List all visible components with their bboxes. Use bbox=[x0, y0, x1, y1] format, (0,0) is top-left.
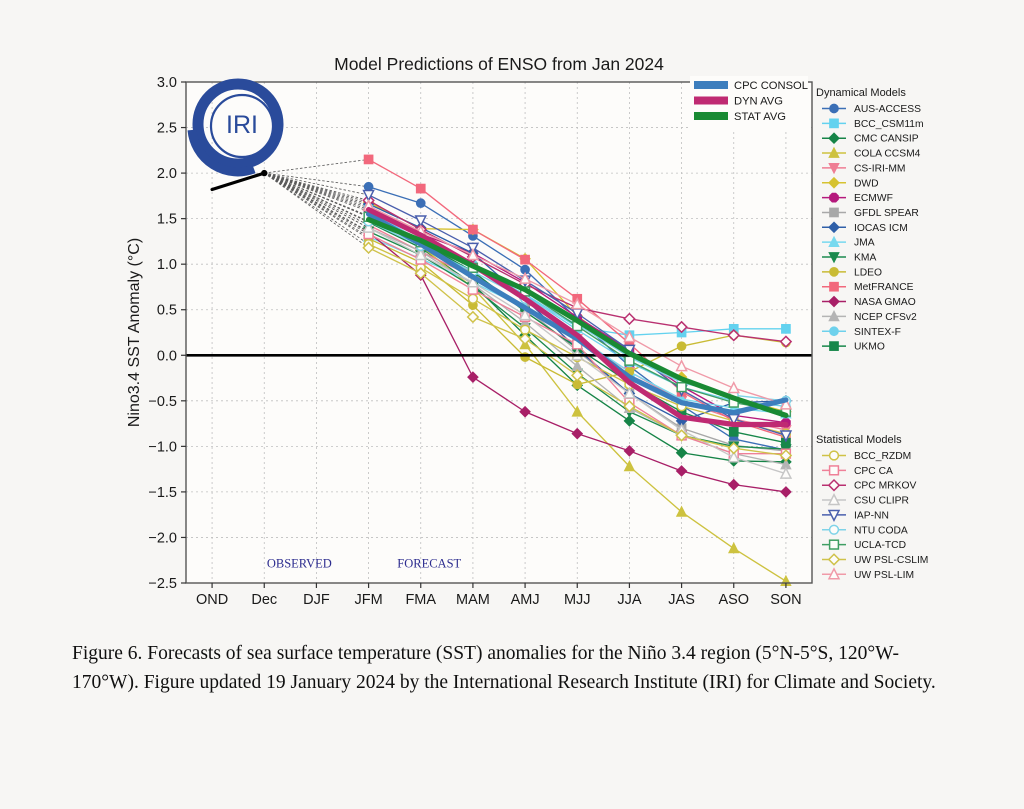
y-tick-label: 0.0 bbox=[157, 348, 177, 364]
legend-label: CPC CONSOL bbox=[734, 80, 808, 92]
legend-label-jma: JMA bbox=[854, 238, 875, 249]
y-tick-label: 1.0 bbox=[157, 257, 177, 273]
x-tick-label-jfm: JFM bbox=[354, 592, 382, 608]
legend-label-iocas-icm: IOCAS ICM bbox=[854, 223, 908, 234]
data-point-marker bbox=[830, 104, 839, 113]
legend-label-ntu-coda: NTU CODA bbox=[854, 525, 908, 536]
legend-label: DYN AVG bbox=[734, 96, 783, 108]
x-tick-label-mjj: MJJ bbox=[564, 592, 591, 608]
data-point-marker bbox=[416, 199, 425, 208]
data-point-marker bbox=[830, 466, 839, 475]
x-tick-label-dec: Dec bbox=[251, 592, 277, 608]
legend-label-kma: KMA bbox=[854, 253, 876, 264]
x-tick-label-son: SON bbox=[770, 592, 801, 608]
data-point-marker bbox=[829, 133, 839, 143]
legend-label-ncep-cfsv2: NCEP CFSv2 bbox=[854, 312, 917, 323]
y-tick-label: 2.5 bbox=[157, 121, 177, 137]
y-tick-label: 1.5 bbox=[157, 212, 177, 228]
data-point-marker bbox=[364, 155, 373, 164]
legend-label: STAT AVG bbox=[734, 111, 786, 123]
data-point-marker bbox=[677, 342, 686, 351]
data-point-marker bbox=[830, 451, 839, 460]
observed-node bbox=[261, 170, 267, 176]
legend-swatch bbox=[694, 97, 728, 105]
emphasis-legend: CPC CONSOLDYN AVGSTAT AVG bbox=[690, 76, 808, 131]
data-point-marker bbox=[521, 255, 530, 264]
x-tick-label-amj: AMJ bbox=[511, 592, 540, 608]
annotation-observed: OBSERVED bbox=[267, 557, 332, 571]
y-tick-label: −2.0 bbox=[148, 530, 177, 546]
data-point-marker bbox=[782, 324, 791, 333]
data-point-marker bbox=[830, 119, 839, 128]
data-point-marker bbox=[830, 267, 839, 276]
legend-label-bcc-rzdm: BCC_RZDM bbox=[854, 451, 911, 462]
legend-label-uw-psl-lim: UW PSL-LIM bbox=[854, 570, 914, 581]
data-point-marker bbox=[830, 282, 839, 291]
dynamical-models-legend: Dynamical ModelsAUS-ACCESSBCC_CSM11mCMC … bbox=[816, 87, 924, 353]
y-tick-label: 2.0 bbox=[157, 166, 177, 182]
legend-label-sintex-f: SINTEX-F bbox=[854, 327, 901, 338]
x-tick-label-jja: JJA bbox=[617, 592, 642, 608]
y-tick-label: −0.5 bbox=[148, 394, 177, 410]
legend-label-gfdl-spear: GFDL SPEAR bbox=[854, 208, 919, 219]
legend-label-ecmwf: ECMWF bbox=[854, 193, 893, 204]
legend-label-cpc-mrkov: CPC MRKOV bbox=[854, 481, 916, 492]
legend-swatch bbox=[694, 81, 728, 89]
legend-label-dwd: DWD bbox=[854, 178, 879, 189]
legend-label-cs-iri-mm: CS-IRI-MM bbox=[854, 163, 905, 174]
enso-forecast-chart: 3.02.52.01.51.00.50.0−0.5−1.0−1.5−2.0−2.… bbox=[0, 0, 1024, 625]
legend-label-ukmo: UKMO bbox=[854, 342, 885, 353]
x-tick-label-djf: DJF bbox=[303, 592, 330, 608]
data-point-marker bbox=[830, 327, 839, 336]
caption-text: Figure 6. Forecasts of sea surface tempe… bbox=[0, 640, 1024, 698]
data-point-marker bbox=[829, 296, 839, 306]
y-tick-label: 0.5 bbox=[157, 303, 177, 319]
logo-text: IRI bbox=[226, 111, 258, 139]
figure-caption: Figure 6. Forecasts of sea surface tempe… bbox=[0, 640, 1024, 698]
data-point-marker bbox=[469, 294, 478, 303]
data-point-marker bbox=[830, 208, 839, 217]
y-tick-label: 3.0 bbox=[157, 75, 177, 91]
legend-label-csu-clipr: CSU CLIPR bbox=[854, 496, 909, 507]
legend-label-bcc-csm11m: BCC_CSM11m bbox=[854, 119, 924, 130]
annotation-forecast: FORECAST bbox=[397, 557, 461, 571]
y-tick-label: −1.0 bbox=[148, 439, 177, 455]
data-point-marker bbox=[830, 540, 839, 549]
legend-label-cmc-cansip: CMC CANSIP bbox=[854, 134, 919, 145]
figure-container: 3.02.52.01.51.00.50.0−0.5−1.0−1.5−2.0−2.… bbox=[0, 0, 1024, 809]
data-point-marker bbox=[729, 427, 738, 436]
data-point-marker bbox=[829, 222, 839, 232]
legend-label-cpc-ca: CPC CA bbox=[854, 466, 893, 477]
legend-header: Statistical Models bbox=[816, 434, 902, 446]
data-point-marker bbox=[829, 554, 839, 564]
legend-label-ldeo: LDEO bbox=[854, 267, 882, 278]
x-tick-label-jas: JAS bbox=[668, 592, 695, 608]
data-point-marker bbox=[830, 525, 839, 534]
data-point-marker bbox=[830, 193, 839, 202]
data-point-marker bbox=[416, 184, 425, 193]
legend-label-uw-psl-cslim: UW PSL-CSLIM bbox=[854, 555, 928, 566]
x-tick-label-aso: ASO bbox=[718, 592, 749, 608]
chart-title: Model Predictions of ENSO from Jan 2024 bbox=[334, 54, 664, 74]
data-point-marker bbox=[829, 178, 839, 188]
y-axis-label: Nino3.4 SST Anomaly (°C) bbox=[126, 238, 143, 427]
legend-label-cola-ccsm4: COLA CCSM4 bbox=[854, 149, 921, 160]
legend-label-iap-nn: IAP-NN bbox=[854, 510, 889, 521]
data-point-marker bbox=[677, 383, 686, 392]
chart-svg: 3.02.52.01.51.00.50.0−0.5−1.0−1.5−2.0−2.… bbox=[0, 0, 1024, 625]
y-tick-label: −1.5 bbox=[148, 485, 177, 501]
x-tick-label-mam: MAM bbox=[456, 592, 490, 608]
legend-label-metfrance: MetFRANCE bbox=[854, 282, 914, 293]
y-tick-label: −2.5 bbox=[148, 576, 177, 592]
data-point-marker bbox=[829, 480, 839, 490]
legend-label-ucla-tcd: UCLA-TCD bbox=[854, 540, 906, 551]
data-point-marker bbox=[830, 342, 839, 351]
x-tick-label-ond: OND bbox=[196, 592, 228, 608]
legend-label-aus-access: AUS-ACCESS bbox=[854, 104, 921, 115]
legend-swatch bbox=[694, 112, 728, 120]
legend-header: Dynamical Models bbox=[816, 87, 906, 99]
data-point-marker bbox=[469, 225, 478, 234]
x-tick-label-fma: FMA bbox=[405, 592, 436, 608]
statistical-models-legend: Statistical ModelsBCC_RZDMCPC CACPC MRKO… bbox=[816, 434, 928, 581]
legend-label-nasa-gmao: NASA GMAO bbox=[854, 297, 916, 308]
